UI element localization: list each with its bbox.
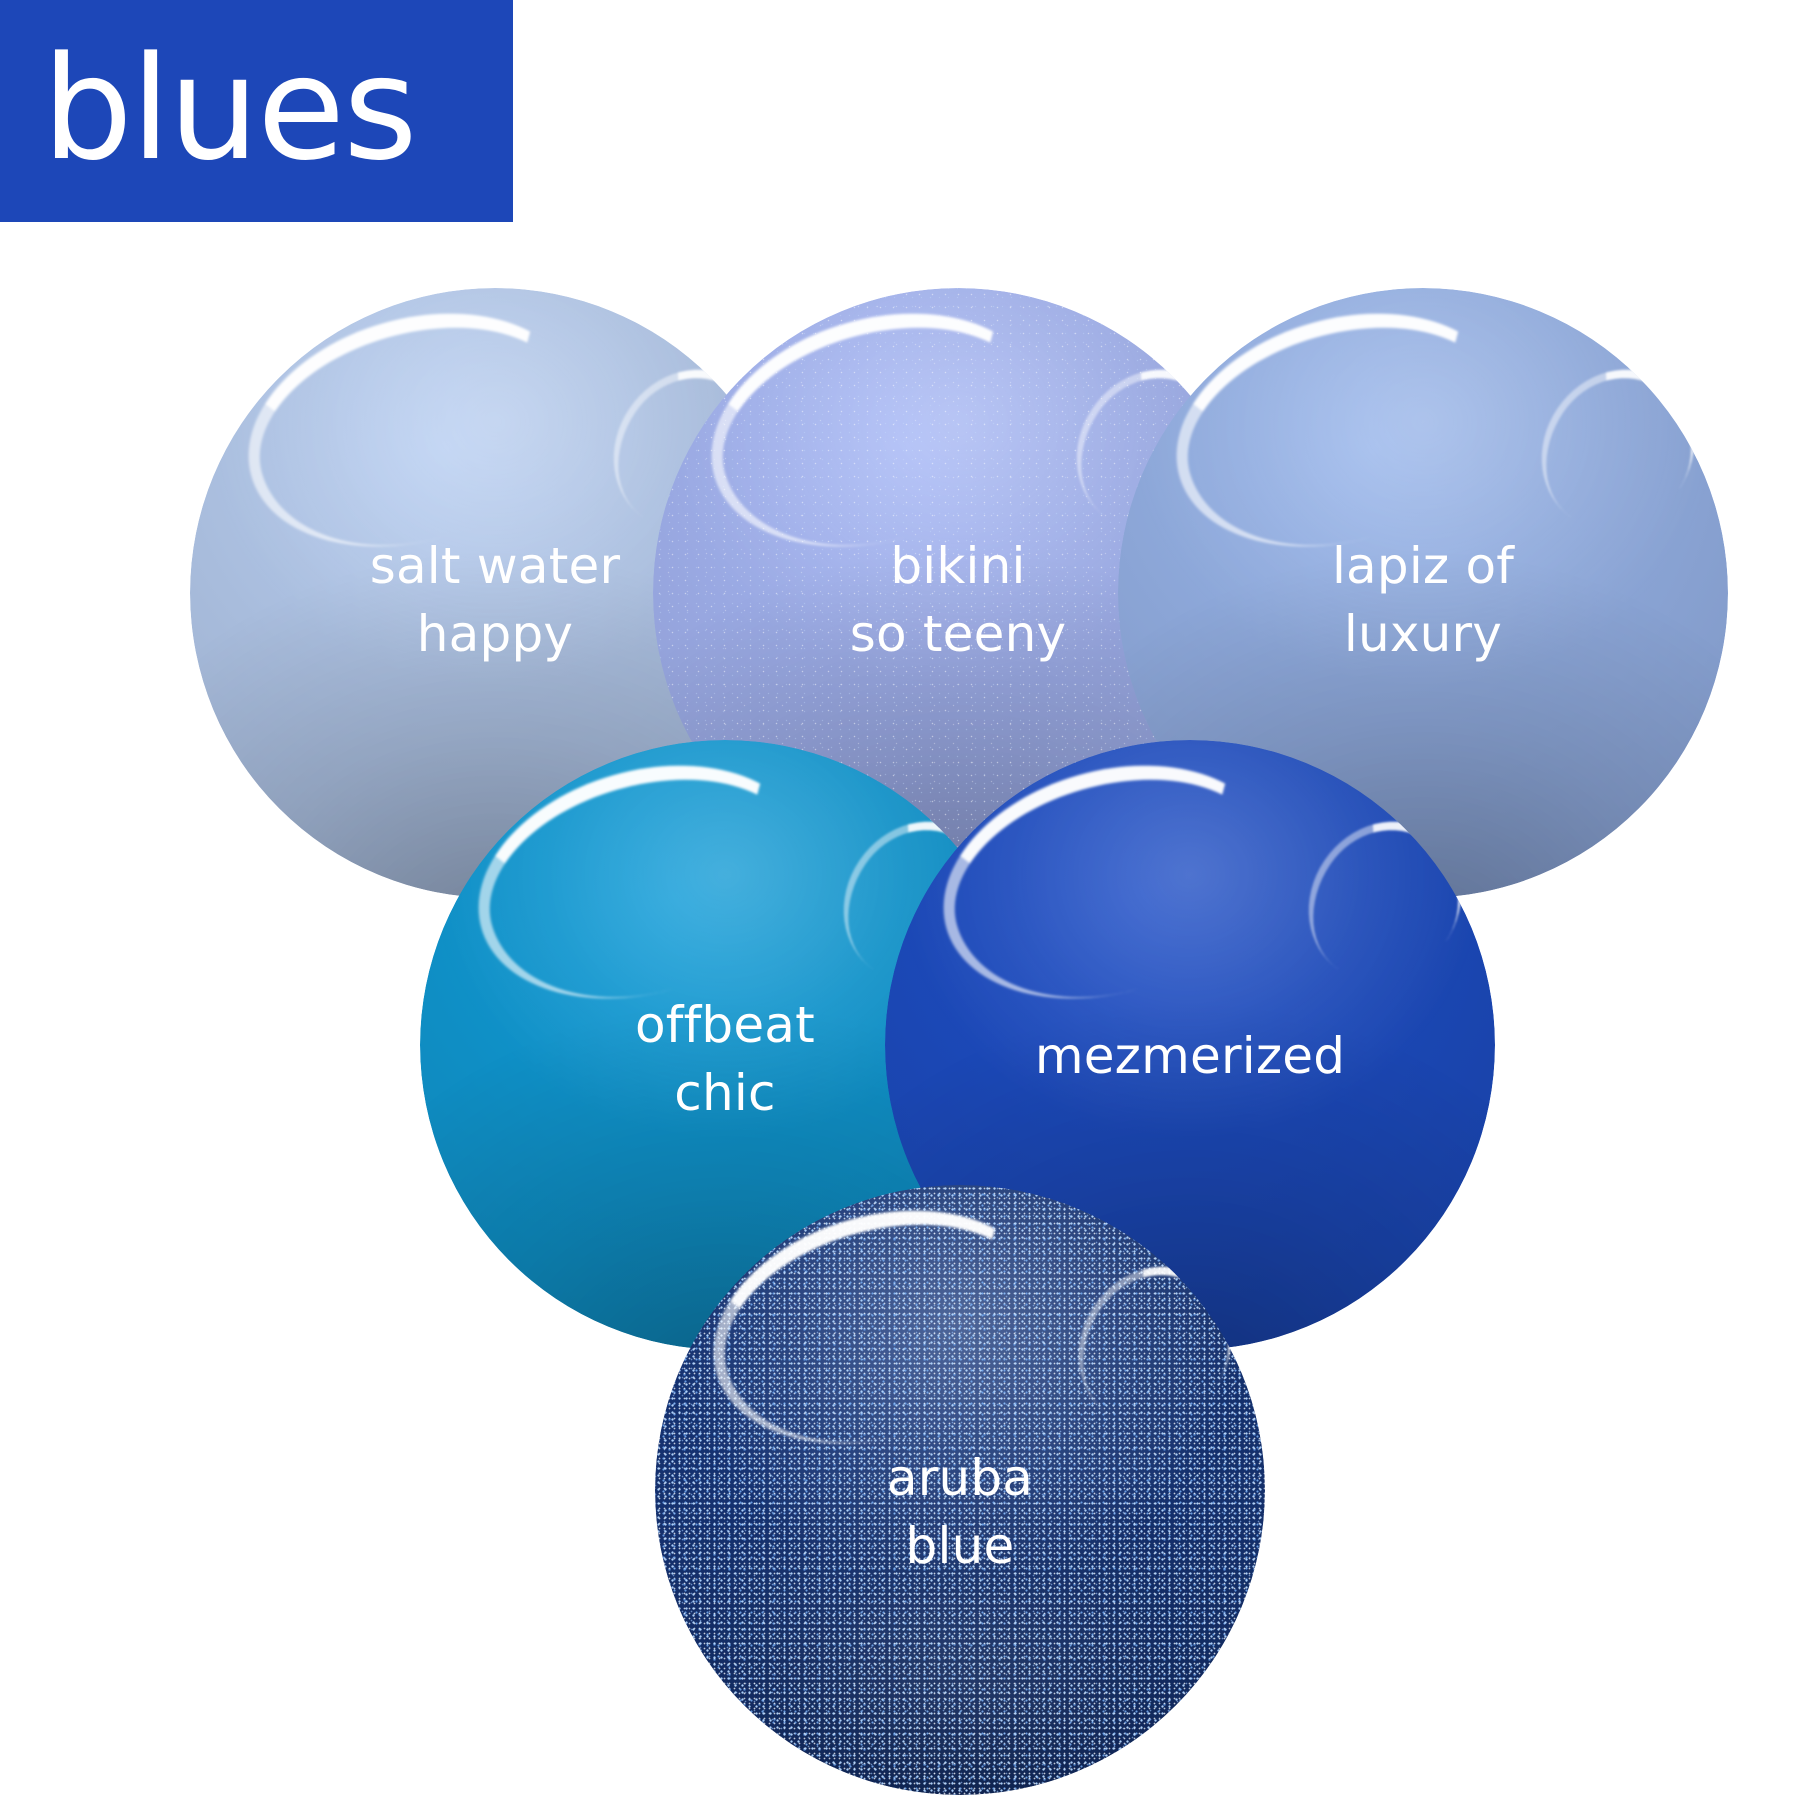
swatch-label: aruba blue xyxy=(887,1444,1033,1580)
swatch-label: lapiz of luxury xyxy=(1332,532,1514,668)
swatch-label: salt water happy xyxy=(370,532,621,668)
swatch-label: offbeat chic xyxy=(635,991,815,1127)
swatch-aruba-blue[interactable]: aruba blue xyxy=(655,1185,1265,1795)
swatch-label: mezmerized xyxy=(1035,1025,1345,1087)
color-swatch-board: salt water happy bikini so teeny lapiz o… xyxy=(0,0,1800,1800)
swatch-label: bikini so teeny xyxy=(850,532,1067,668)
